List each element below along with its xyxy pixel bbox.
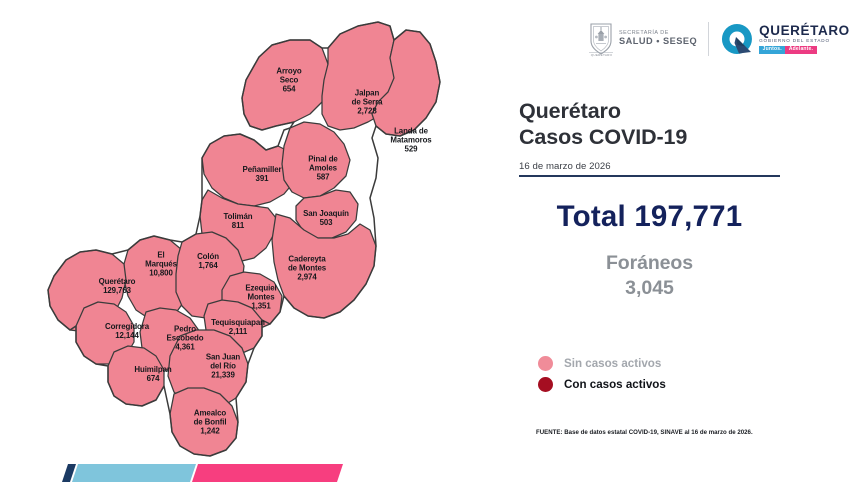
seseq-line2: SALUD • SESEQ (619, 37, 697, 47)
total-cases: Total 197,771 (519, 200, 780, 234)
covid-map-infographic: QUERÉTARO SECRETARÍA DE SALUD • SESEQ QU… (0, 0, 860, 484)
q-circle-arrow-icon (721, 23, 753, 55)
legend-item-con-casos[interactable]: Con casos activos (538, 374, 666, 395)
report-date: 16 de marzo de 2026 (519, 161, 849, 172)
legend-item-sin-casos[interactable]: Sin casos activos (538, 353, 666, 374)
map-svg (22, 18, 502, 458)
deco-blue-stripe (72, 464, 196, 482)
legend-dot-pink-icon (538, 356, 553, 371)
state-government-logo: QUERÉTARO GOBIERNO DEL ESTADO Juntos. Ad… (721, 23, 850, 55)
foraneos-value: 3,045 (519, 277, 780, 300)
foraneos-block: Foráneos 3,045 (519, 252, 780, 300)
coat-of-arms-shield-icon: QUERÉTARO (588, 22, 614, 56)
title-line-1: Querétaro (519, 98, 849, 124)
crest-caption: QUERÉTARO (585, 53, 618, 57)
title-divider (519, 175, 780, 177)
legend-dot-red-icon (538, 377, 553, 392)
title-line-2: Casos COVID-19 (519, 124, 849, 150)
source-note: FUENTE: Base de datos estatal COVID-19, … (536, 429, 753, 436)
region-pinal-de-amoles (282, 122, 350, 198)
foraneos-label: Foráneos (519, 252, 780, 275)
total-label: Total 197,771 (519, 200, 780, 234)
tagline-juntos: Juntos. (759, 46, 785, 54)
legend-label-sin-casos: Sin casos activos (564, 357, 661, 370)
deco-pink-stripe (192, 464, 343, 482)
map-legend: Sin casos activos Con casos activos (538, 353, 666, 395)
page-title: Querétaro Casos COVID-19 (519, 98, 849, 150)
logo-bar: QUERÉTARO SECRETARÍA DE SALUD • SESEQ QU… (588, 14, 850, 64)
decorative-bottom-bar (0, 458, 400, 484)
queretaro-municipality-map[interactable]: ArroyoSeco654Jalpande Serra2,728Landa de… (22, 18, 502, 458)
logo-divider (708, 22, 709, 56)
state-subtitle: GOBIERNO DEL ESTADO (759, 39, 850, 44)
state-name: QUERÉTARO (759, 24, 850, 38)
seseq-logo: QUERÉTARO SECRETARÍA DE SALUD • SESEQ (588, 22, 697, 56)
tagline-adelante: Adelante. (785, 46, 816, 54)
region-arroyo-seco (242, 40, 328, 130)
info-panel: Querétaro Casos COVID-19 16 de marzo de … (519, 98, 849, 300)
state-tagline: Juntos. Adelante. (759, 46, 850, 54)
legend-label-con-casos: Con casos activos (564, 378, 666, 391)
